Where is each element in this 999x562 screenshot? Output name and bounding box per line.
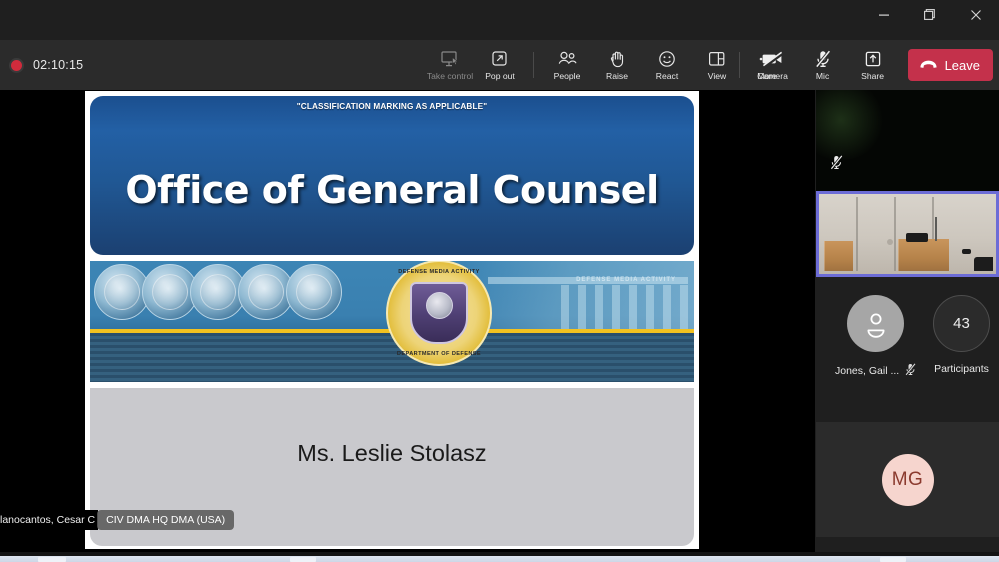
- slide-banner: DEFENSE MEDIA ACTIVITY DEFENSE MEDIA ACT…: [90, 261, 694, 382]
- toolbar-take-control-label: Take control: [427, 71, 473, 81]
- conference-room-video: [822, 197, 993, 271]
- mic-off-icon: [830, 155, 843, 175]
- initials-avatar: MG: [882, 454, 934, 506]
- service-seals-group: [94, 264, 334, 320]
- participants-label: Participants: [934, 363, 989, 375]
- leave-button-label: Leave: [945, 58, 980, 73]
- person-icon: [861, 309, 891, 339]
- presenter-name: Ms. Leslie Stolasz: [90, 440, 694, 467]
- toolbar-react-label: React: [656, 71, 678, 81]
- mic-off-icon: [815, 49, 831, 69]
- react-smiley-icon: [658, 49, 676, 69]
- toolbar-pop-out-label: Pop out: [485, 71, 515, 81]
- hangup-phone-icon: [919, 58, 938, 73]
- toolbar-divider: [533, 52, 534, 78]
- participant-name-row: Jones, Gail ...: [835, 363, 916, 379]
- participant-tile-jones-gail[interactable]: Jones, Gail ...: [835, 295, 916, 379]
- avatar: [847, 295, 904, 352]
- slide-header-panel: "CLASSIFICATION MARKING AS APPLICABLE" O…: [90, 96, 694, 255]
- defense-media-activity-seal: DEFENSE MEDIA ACTIVITY DEPARTMENT OF DEF…: [386, 261, 492, 366]
- shared-content-stage[interactable]: "CLASSIFICATION MARKING AS APPLICABLE" O…: [0, 90, 815, 552]
- podium-monitor: [906, 233, 928, 242]
- participant-tile-mg[interactable]: MG: [816, 422, 999, 537]
- view-grid-icon: [708, 49, 726, 69]
- toolbar-right-group: Camera Mic: [731, 40, 999, 90]
- toolbar-mic-label: Mic: [816, 71, 829, 81]
- initials-text: MG: [892, 469, 924, 491]
- sharer-name-tag: lanocantos, Cesar C CIV DMA HQ DMA (USA): [0, 510, 234, 530]
- close-icon[interactable]: [953, 0, 999, 30]
- podium-center: [898, 239, 949, 271]
- participants-count-tile[interactable]: 43 Participants: [933, 295, 990, 375]
- wall-knob: [887, 239, 893, 245]
- building-sign-label: DEFENSE MEDIA ACTIVITY: [576, 277, 676, 283]
- people-icon: [557, 49, 578, 69]
- dma-seal-globe: [426, 292, 453, 319]
- teams-meeting-window: 02:10:15 Take control: [0, 0, 999, 562]
- dma-seal-top-text: DEFENSE MEDIA ACTIVITY: [388, 269, 490, 275]
- participant-name: Jones, Gail ...: [835, 365, 899, 377]
- participant-roster-sidebar: Jones, Gail ... 43: [816, 90, 999, 552]
- toolbar-camera-label: Camera: [757, 71, 788, 81]
- toolbar-people-label: People: [554, 71, 581, 81]
- toolbar-camera-button[interactable]: Camera: [748, 41, 798, 89]
- toolbar-share-button[interactable]: Share: [848, 41, 898, 89]
- recording-status: 02:10:15: [9, 58, 83, 73]
- pop-out-icon: [491, 49, 509, 69]
- meeting-toolbar: 02:10:15 Take control: [0, 40, 999, 90]
- minimize-icon[interactable]: [861, 0, 907, 30]
- share-up-arrow-icon: [864, 49, 882, 69]
- banner-dark-band: [90, 333, 694, 382]
- leave-button[interactable]: Leave: [908, 49, 993, 81]
- dma-seal-shield: [410, 282, 468, 344]
- shared-presentation-slide[interactable]: "CLASSIFICATION MARKING AS APPLICABLE" O…: [85, 91, 699, 549]
- toolbar-share-label: Share: [861, 71, 884, 81]
- dark-video-tile[interactable]: [816, 90, 999, 191]
- toolbar-divider-right: [739, 52, 740, 78]
- recording-timer: 02:10:15: [33, 58, 83, 72]
- sharer-name-clipped: lanocantos, Cesar C: [0, 510, 98, 530]
- raise-hand-icon: [609, 49, 626, 69]
- classification-marking: "CLASSIFICATION MARKING AS APPLICABLE": [90, 102, 694, 111]
- window-title-bar: [0, 0, 999, 40]
- toolbar-raise-label: Raise: [606, 71, 628, 81]
- sharer-org-pill: CIV DMA HQ DMA (USA): [97, 510, 234, 530]
- toolbar-people-button[interactable]: People: [542, 41, 592, 89]
- participants-count-circle: 43: [933, 295, 990, 352]
- recording-dot-icon: [9, 58, 24, 73]
- dma-seal-bottom-text: DEPARTMENT OF DEFENSE: [388, 351, 490, 357]
- active-speaker-video-tile[interactable]: [816, 191, 999, 277]
- tile-glow: [816, 90, 886, 160]
- toolbar-pop-out-button[interactable]: Pop out: [475, 41, 525, 89]
- take-control-icon: [441, 49, 460, 69]
- toolbar-react-button[interactable]: React: [642, 41, 692, 89]
- slide-content: "CLASSIFICATION MARKING AS APPLICABLE" O…: [90, 96, 694, 546]
- toolbar-view-label: View: [708, 71, 726, 81]
- toolbar-mic-button[interactable]: Mic: [798, 41, 848, 89]
- camera-off-icon: [762, 49, 784, 69]
- wall-outlet: [962, 249, 971, 254]
- podium-left: [824, 241, 853, 271]
- space-force-seal: [286, 264, 342, 320]
- mic-off-icon: [905, 363, 916, 379]
- restore-icon[interactable]: [907, 0, 953, 30]
- desktop-taskbar[interactable]: [0, 556, 999, 562]
- participants-count: 43: [953, 315, 970, 332]
- toolbar-take-control-button[interactable]: Take control: [425, 41, 475, 89]
- avatar-tiles-row: Jones, Gail ... 43: [816, 277, 999, 422]
- slide-title: Office of General Counsel: [90, 168, 694, 212]
- microphone-stand: [935, 217, 937, 241]
- toolbar-raise-hand-button[interactable]: Raise: [592, 41, 642, 89]
- room-display: [974, 257, 993, 271]
